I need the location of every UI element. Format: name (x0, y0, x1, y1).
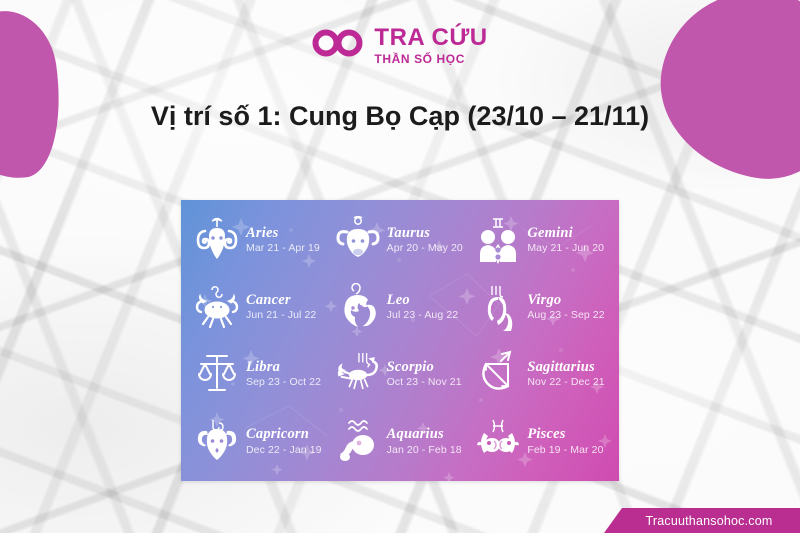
zodiac-sign-grid: Aries Mar 21 - Apr 19 (181, 200, 619, 481)
zodiac-sign-name: Aries (246, 225, 320, 241)
zodiac-sign-text: Sagittarius Nov 22 - Dec 21 (527, 359, 604, 389)
zodiac-sign-name: Taurus (387, 225, 463, 241)
zodiac-sign-sagittarius[interactable]: Sagittarius Nov 22 - Dec 21 (470, 341, 611, 408)
zodiac-sign-name: Cancer (246, 292, 316, 308)
zodiac-sign-scorpio[interactable]: Scorpio Oct 23 - Nov 21 (330, 341, 471, 408)
zodiac-sign-text: Taurus Apr 20 - May 20 (387, 225, 463, 255)
scales-icon (195, 349, 239, 399)
zodiac-sign-text: Gemini May 21 - Jun 20 (527, 225, 604, 255)
zodiac-sign-dates: Feb 19 - Mar 20 (527, 445, 603, 457)
zodiac-sign-dates: Aug 23 - Sep 22 (527, 310, 604, 322)
zodiac-sign-name: Scorpio (387, 359, 462, 375)
zodiac-sign-name: Gemini (527, 225, 604, 241)
poster-canvas: TRA CỨU THẦN SỐ HỌC Vị trí số 1: Cung Bọ… (0, 0, 800, 533)
zodiac-sign-gemini[interactable]: Gemini May 21 - Jun 20 (470, 206, 611, 273)
twins-icon (476, 215, 520, 265)
website-url-text: Tracuuthansohoc.com (631, 514, 772, 528)
scorpion-icon (336, 349, 380, 399)
ram-icon (195, 215, 239, 265)
crab-icon (195, 282, 239, 332)
maiden-icon (476, 282, 520, 332)
zodiac-sign-dates: May 21 - Jun 20 (527, 243, 604, 255)
zodiac-sign-dates: Apr 20 - May 20 (387, 243, 463, 255)
brand-logo-text: TRA CỨU THẦN SỐ HỌC (374, 26, 487, 65)
infinity-icon (312, 27, 364, 64)
zodiac-sign-text: Aries Mar 21 - Apr 19 (246, 225, 320, 255)
zodiac-sign-libra[interactable]: Libra Sep 23 - Oct 22 (189, 341, 330, 408)
zodiac-sign-name: Leo (387, 292, 459, 308)
zodiac-sign-dates: Jun 21 - Jul 22 (246, 310, 316, 322)
zodiac-sign-text: Libra Sep 23 - Oct 22 (246, 359, 321, 389)
website-url-banner[interactable]: Tracuuthansohoc.com (604, 508, 800, 533)
bull-icon (336, 215, 380, 265)
zodiac-sign-text: Pisces Feb 19 - Mar 20 (527, 426, 603, 456)
zodiac-sign-text: Aquarius Jan 20 - Feb 18 (387, 426, 462, 456)
zodiac-sign-dates: Nov 22 - Dec 21 (527, 377, 604, 389)
archer-bow-icon (476, 349, 520, 399)
zodiac-sign-name: Virgo (527, 292, 604, 308)
zodiac-sign-text: Capricorn Dec 22 - Jan 19 (246, 426, 322, 456)
zodiac-sign-dates: Mar 21 - Apr 19 (246, 243, 320, 255)
zodiac-sign-text: Leo Jul 23 - Aug 22 (387, 292, 459, 322)
zodiac-sign-dates: Dec 22 - Jan 19 (246, 445, 322, 457)
zodiac-sign-aquarius[interactable]: Aquarius Jan 20 - Feb 18 (330, 408, 471, 475)
zodiac-sign-name: Pisces (527, 426, 603, 442)
zodiac-sign-dates: Sep 23 - Oct 22 (246, 377, 321, 389)
goat-icon (195, 416, 239, 466)
fishes-icon (476, 416, 520, 466)
zodiac-sign-text: Cancer Jun 21 - Jul 22 (246, 292, 316, 322)
zodiac-sign-text: Virgo Aug 23 - Sep 22 (527, 292, 604, 322)
lion-icon (336, 282, 380, 332)
zodiac-sign-name: Capricorn (246, 426, 322, 442)
page-title: Vị trí số 1: Cung Bọ Cạp (23/10 – 21/11) (120, 98, 680, 134)
zodiac-sign-dates: Jul 23 - Aug 22 (387, 310, 459, 322)
zodiac-chart-panel: Aries Mar 21 - Apr 19 (181, 200, 619, 481)
water-bearer-icon (336, 416, 380, 466)
zodiac-sign-cancer[interactable]: Cancer Jun 21 - Jul 22 (189, 273, 330, 340)
zodiac-sign-name: Sagittarius (527, 359, 604, 375)
zodiac-sign-name: Libra (246, 359, 321, 375)
zodiac-sign-dates: Jan 20 - Feb 18 (387, 445, 462, 457)
zodiac-sign-text: Scorpio Oct 23 - Nov 21 (387, 359, 462, 389)
zodiac-sign-name: Aquarius (387, 426, 462, 442)
zodiac-sign-capricorn[interactable]: Capricorn Dec 22 - Jan 19 (189, 408, 330, 475)
zodiac-sign-dates: Oct 23 - Nov 21 (387, 377, 462, 389)
zodiac-sign-aries[interactable]: Aries Mar 21 - Apr 19 (189, 206, 330, 273)
zodiac-sign-pisces[interactable]: Pisces Feb 19 - Mar 20 (470, 408, 611, 475)
zodiac-sign-taurus[interactable]: Taurus Apr 20 - May 20 (330, 206, 471, 273)
brand-logo[interactable]: TRA CỨU THẦN SỐ HỌC (0, 26, 800, 65)
zodiac-sign-virgo[interactable]: Virgo Aug 23 - Sep 22 (470, 273, 611, 340)
brand-name-secondary: THẦN SỐ HỌC (374, 53, 487, 65)
brand-name-primary: TRA CỨU (374, 26, 487, 50)
zodiac-sign-leo[interactable]: Leo Jul 23 - Aug 22 (330, 273, 471, 340)
